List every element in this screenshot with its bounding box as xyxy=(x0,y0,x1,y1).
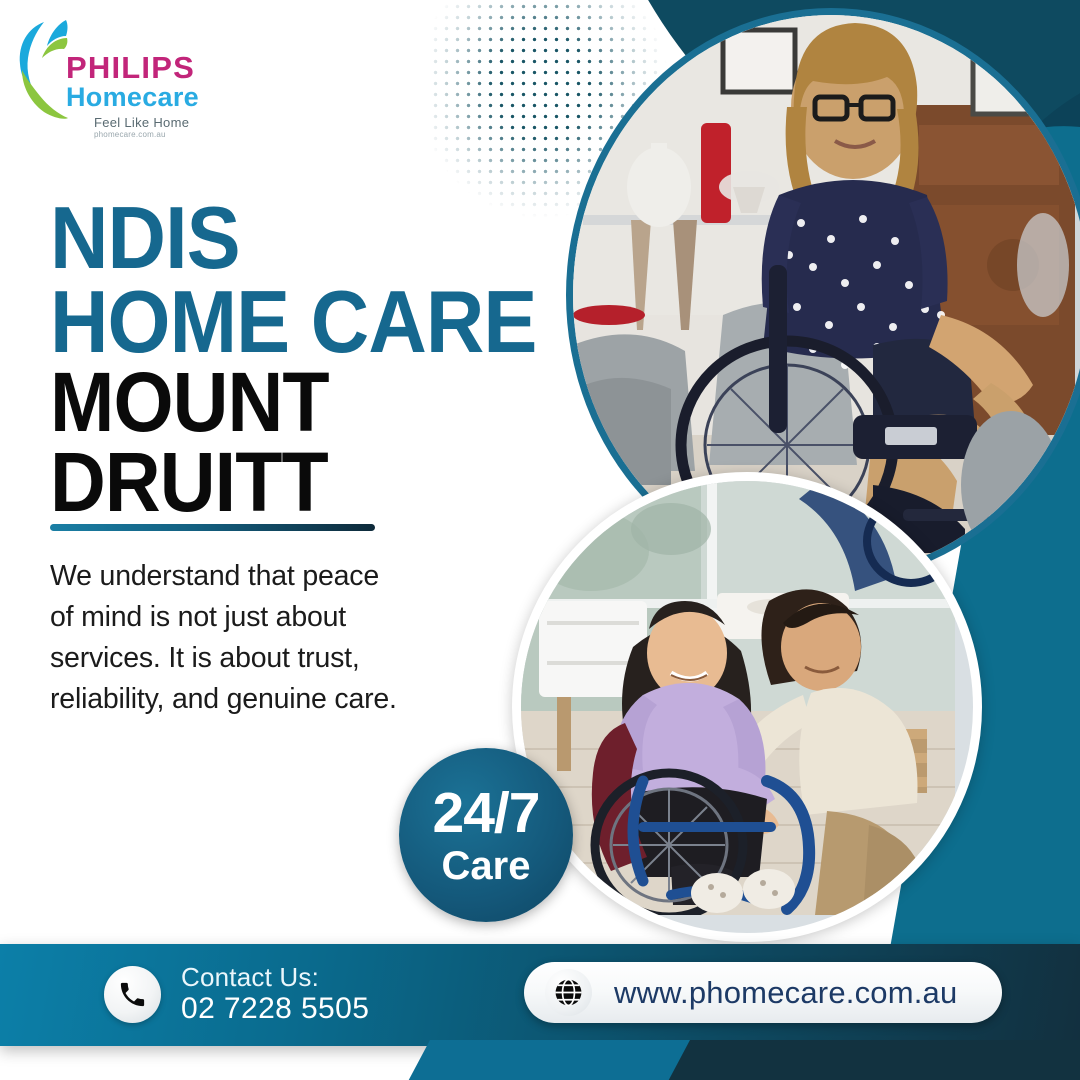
page-title: NDIS HOME CARE MOUNT DRUITT xyxy=(50,196,610,523)
contact-block[interactable]: Contact Us: 02 7228 5505 xyxy=(104,962,369,1027)
logo-primary-name: PHILIPS xyxy=(66,52,199,83)
brand-logo: PHILIPS Homecare Feel Like Home phomecar… xyxy=(14,14,314,134)
phone-icon xyxy=(104,966,161,1023)
headline-line-1: NDIS xyxy=(50,196,565,280)
body-paragraph: We understand that peace of mind is not … xyxy=(50,556,410,720)
photo-carer-with-young-woman-wheelchair xyxy=(512,472,982,942)
globe-icon xyxy=(545,969,592,1016)
title-divider-rule xyxy=(50,524,375,531)
website-url[interactable]: www.phomecare.com.au xyxy=(614,975,957,1011)
badge-24-7-care: 24/7 Care xyxy=(399,748,573,922)
logo-tagline: Feel Like Home xyxy=(94,116,199,129)
contact-text-group: Contact Us: 02 7228 5505 xyxy=(181,962,369,1027)
bottom-dark-angle-shape xyxy=(658,1040,1080,1080)
website-pill[interactable]: www.phomecare.com.au xyxy=(524,962,1002,1023)
logo-website-small: phomecare.com.au xyxy=(94,131,199,139)
heart-swoosh-icon xyxy=(14,14,70,126)
badge-top-text: 24/7 xyxy=(433,785,540,842)
contact-label: Contact Us: xyxy=(181,962,369,992)
phone-number[interactable]: 02 7228 5505 xyxy=(181,992,369,1027)
badge-bottom-text: Care xyxy=(442,846,531,886)
headline-line-2: HOME CARE xyxy=(50,280,565,364)
headline-line-3: MOUNT DRUITT xyxy=(50,363,565,523)
logo-secondary-name: Homecare xyxy=(66,84,199,111)
poster-canvas: PHILIPS Homecare Feel Like Home phomecar… xyxy=(0,0,1080,1080)
